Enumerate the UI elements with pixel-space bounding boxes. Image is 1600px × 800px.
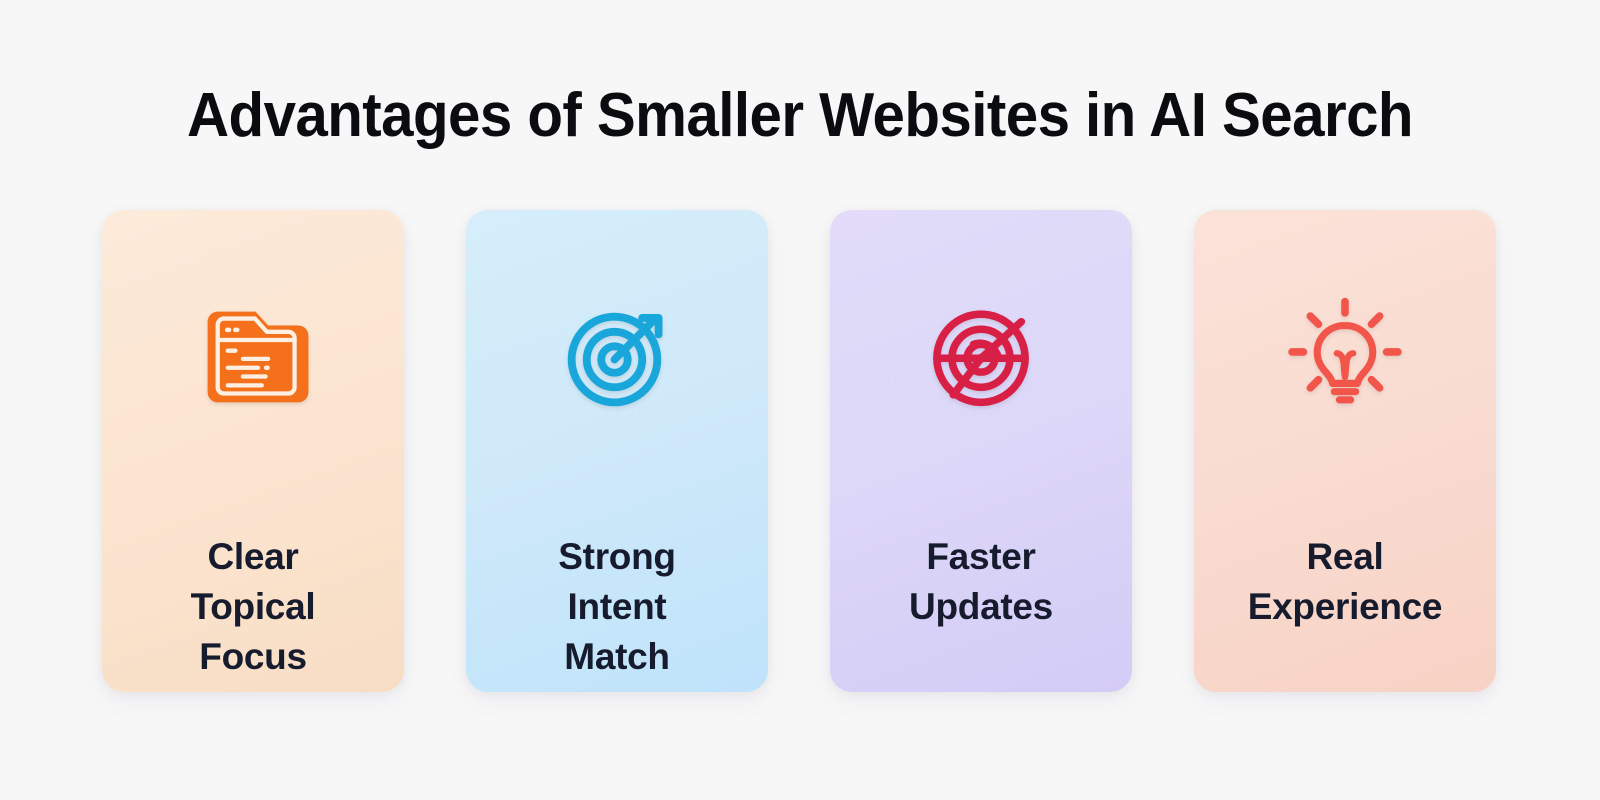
- target-arrow-icon: [552, 292, 682, 422]
- advantage-card-row: Clear Topical Focus Strong Intent Match: [102, 210, 1496, 692]
- advantage-card-faster-updates[interactable]: Faster Updates: [830, 210, 1132, 692]
- advantage-card-label: Faster Updates: [830, 532, 1132, 632]
- advantage-card-label: Clear Topical Focus: [102, 532, 404, 682]
- lightbulb-idea-icon: [1280, 292, 1410, 422]
- advantage-card-real-experience[interactable]: Real Experience: [1194, 210, 1496, 692]
- advantage-card-label: Real Experience: [1194, 532, 1496, 632]
- advantage-card-label: Strong Intent Match: [466, 532, 768, 682]
- page-title: Advantages of Smaller Websites in AI Sea…: [48, 78, 1552, 154]
- document-code-icon: [188, 292, 318, 422]
- advantage-card-strong-intent-match[interactable]: Strong Intent Match: [466, 210, 768, 692]
- radar-target-icon: [916, 292, 1046, 422]
- infographic-page: Advantages of Smaller Websites in AI Sea…: [0, 0, 1600, 800]
- advantage-card-clear-topical-focus[interactable]: Clear Topical Focus: [102, 210, 404, 692]
